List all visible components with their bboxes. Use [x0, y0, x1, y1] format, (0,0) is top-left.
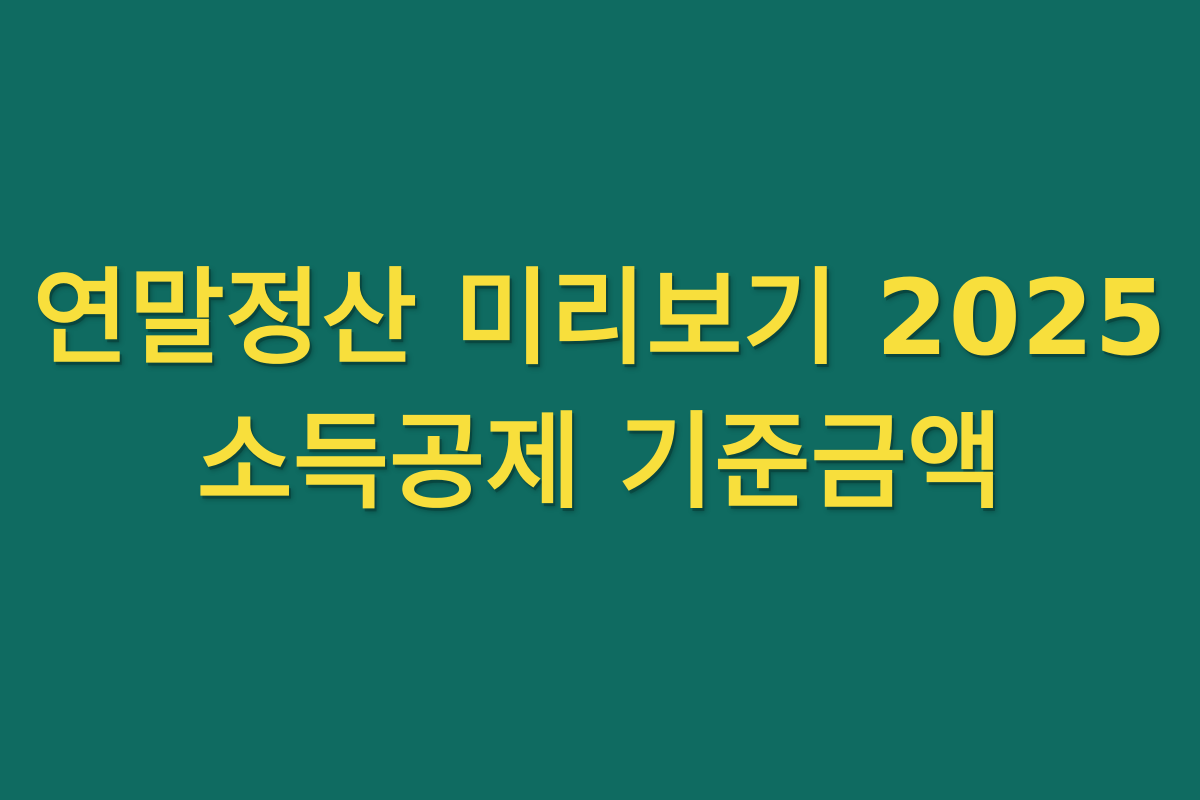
banner-background: 연말정산 미리보기 2025 소득공제 기준금액 — [0, 0, 1200, 800]
banner-title-line-2: 소득공제 기준금액 — [0, 391, 1200, 535]
banner-title-line-1: 연말정산 미리보기 2025 — [0, 247, 1200, 391]
banner-title-block: 연말정산 미리보기 2025 소득공제 기준금액 — [0, 247, 1200, 534]
